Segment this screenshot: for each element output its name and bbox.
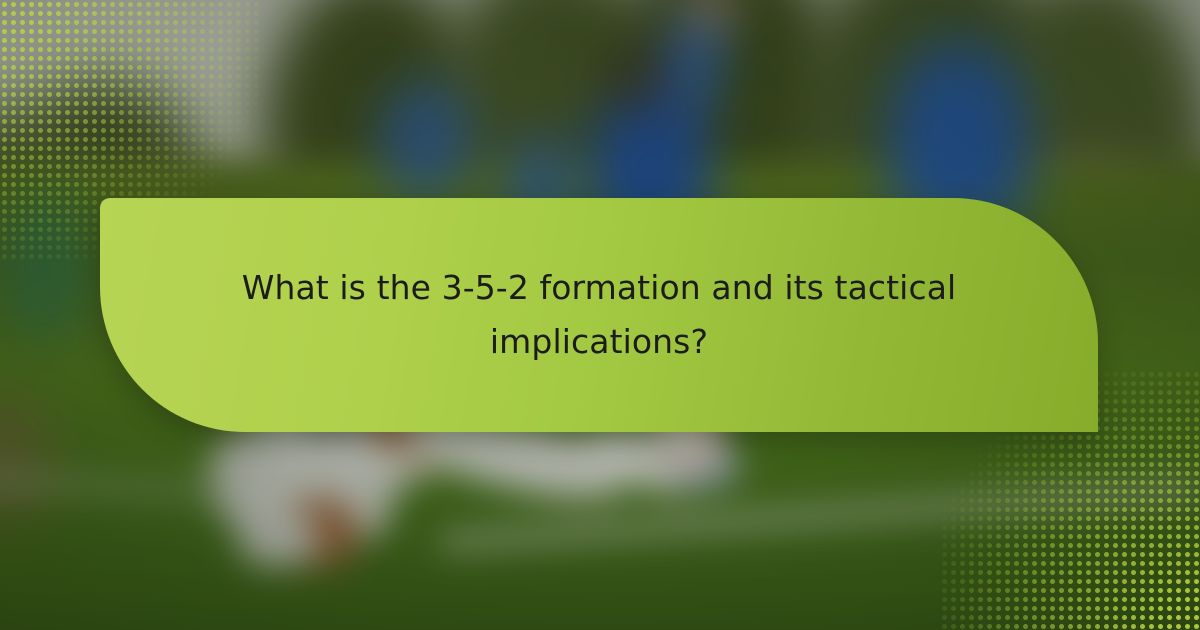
page-root: What is the 3-5-2 formation and its tact…	[0, 0, 1200, 630]
question-text: What is the 3-5-2 formation and its tact…	[219, 261, 979, 370]
question-card: What is the 3-5-2 formation and its tact…	[100, 198, 1098, 432]
